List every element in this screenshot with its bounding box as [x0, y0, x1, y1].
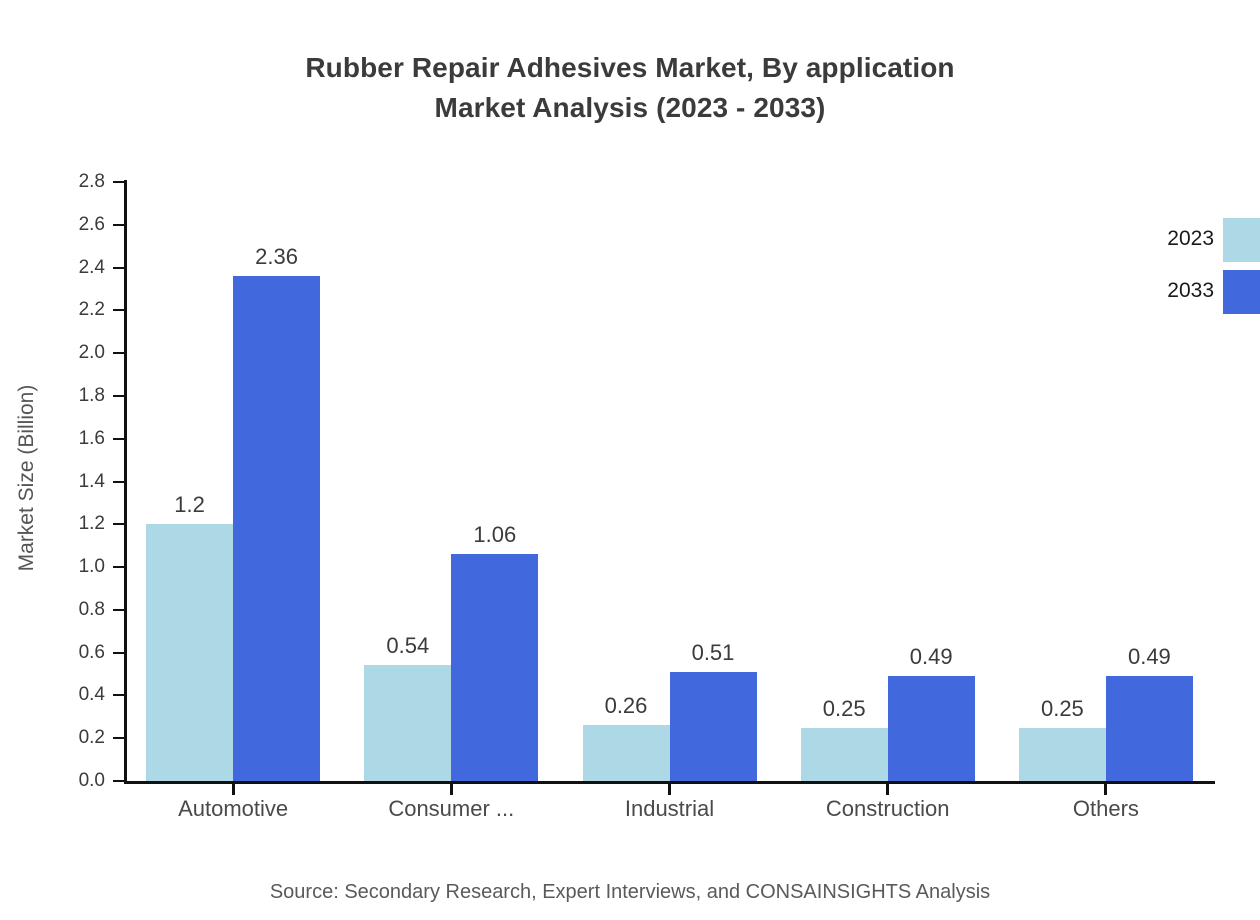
y-axis-tick: [113, 694, 124, 696]
y-axis-tick-label-text: 1.0: [59, 557, 105, 576]
bar-value-label: 0.49: [861, 644, 1001, 670]
y-axis-tick-label-text: 1.2: [59, 514, 105, 533]
y-axis-tick-label: 2.2: [55, 300, 105, 319]
legend-swatch-2033: [1223, 270, 1260, 314]
y-axis-tick-label-text: 2.8: [59, 172, 105, 191]
bar-value-label: 2.36: [207, 244, 347, 270]
y-axis-tick: [113, 566, 124, 568]
y-axis-tick: [113, 309, 124, 311]
x-axis-tick-label: Others: [966, 793, 1246, 825]
y-axis-tick-label-text: 0.0: [59, 771, 105, 790]
bar-value-label: 1.06: [425, 522, 565, 548]
y-axis-tick: [113, 609, 124, 611]
bar-2033-others[interactable]: [1106, 676, 1193, 781]
y-axis-tick: [113, 523, 124, 525]
bar-2023-industrial[interactable]: [583, 725, 670, 781]
y-axis-title: Market Size (Billion): [10, 238, 44, 718]
y-axis-tick-label: 2.0: [55, 343, 105, 362]
y-axis-tick-label-text: 0.6: [59, 643, 105, 662]
chart-title-block: Rubber Repair Adhesives Market, By appli…: [0, 48, 1260, 128]
bar-2033-automotive[interactable]: [233, 276, 320, 781]
y-axis-tick-label: 1.0: [55, 557, 105, 576]
y-axis-tick-label: 1.2: [55, 514, 105, 533]
bar-2023-others[interactable]: [1019, 728, 1106, 781]
y-axis-tick-label: 2.8: [55, 172, 105, 191]
y-axis-tick-label-text: 1.4: [59, 472, 105, 491]
y-axis-tick: [113, 181, 124, 183]
bar-chart-figure: Rubber Repair Adhesives Market, By appli…: [0, 0, 1260, 920]
bar-2023-consumer[interactable]: [364, 665, 451, 781]
legend-label-2023: 2023: [1130, 226, 1214, 252]
y-axis-tick-label: 1.6: [55, 429, 105, 448]
y-axis-tick-label: 2.6: [55, 215, 105, 234]
bar-2033-construction[interactable]: [888, 676, 975, 781]
y-axis-tick: [113, 224, 124, 226]
bar-2033-industrial[interactable]: [670, 672, 757, 781]
legend-label-2033: 2033: [1130, 278, 1214, 304]
y-axis-tick-label-text: 2.2: [59, 300, 105, 319]
y-axis-tick-label: 1.4: [55, 472, 105, 491]
y-axis-tick-label-text: 2.6: [59, 215, 105, 234]
y-axis-tick-label: 0.0: [55, 771, 105, 790]
legend-item-2023[interactable]: 2023: [1130, 218, 1260, 262]
y-axis-tick: [113, 481, 124, 483]
y-axis-tick-label: 1.8: [55, 386, 105, 405]
y-axis-tick-label: 2.4: [55, 258, 105, 277]
y-axis-tick-label: 0.6: [55, 643, 105, 662]
y-axis-tick: [113, 267, 124, 269]
y-axis-line: [124, 180, 127, 784]
y-axis-tick-label-text: 0.8: [59, 600, 105, 619]
y-axis-tick-label-text: 0.4: [59, 685, 105, 704]
chart-legend: 2023 2033: [1130, 218, 1260, 314]
legend-item-2033[interactable]: 2033: [1130, 270, 1260, 314]
bar-2023-automotive[interactable]: [146, 524, 233, 781]
source-note: Source: Secondary Research, Expert Inter…: [0, 878, 1260, 906]
y-axis-tick: [113, 737, 124, 739]
bar-value-label: 0.49: [1079, 644, 1219, 670]
bar-value-label: 0.51: [643, 640, 783, 666]
bar-2023-construction[interactable]: [801, 728, 888, 781]
y-axis-tick-label-text: 2.4: [59, 258, 105, 277]
y-axis-tick-label-text: 0.2: [59, 728, 105, 747]
y-axis-tick: [113, 438, 124, 440]
y-axis-tick-label: 0.2: [55, 728, 105, 747]
y-axis-tick-label: 0.4: [55, 685, 105, 704]
y-axis-tick-label-text: 1.6: [59, 429, 105, 448]
legend-swatch-2023: [1223, 218, 1260, 262]
y-axis-tick: [113, 352, 124, 354]
y-axis-tick: [113, 652, 124, 654]
y-axis-tick-label-text: 1.8: [59, 386, 105, 405]
chart-title-line-1: Rubber Repair Adhesives Market, By appli…: [0, 48, 1260, 88]
y-axis-title-text: Market Size (Billion): [15, 385, 39, 572]
chart-title-line-2: Market Analysis (2023 - 2033): [0, 88, 1260, 128]
y-axis-tick: [113, 395, 124, 397]
y-axis-tick-label-text: 2.0: [59, 343, 105, 362]
bar-2033-consumer[interactable]: [451, 554, 538, 781]
y-axis-tick: [113, 780, 124, 782]
y-axis-tick-label: 0.8: [55, 600, 105, 619]
